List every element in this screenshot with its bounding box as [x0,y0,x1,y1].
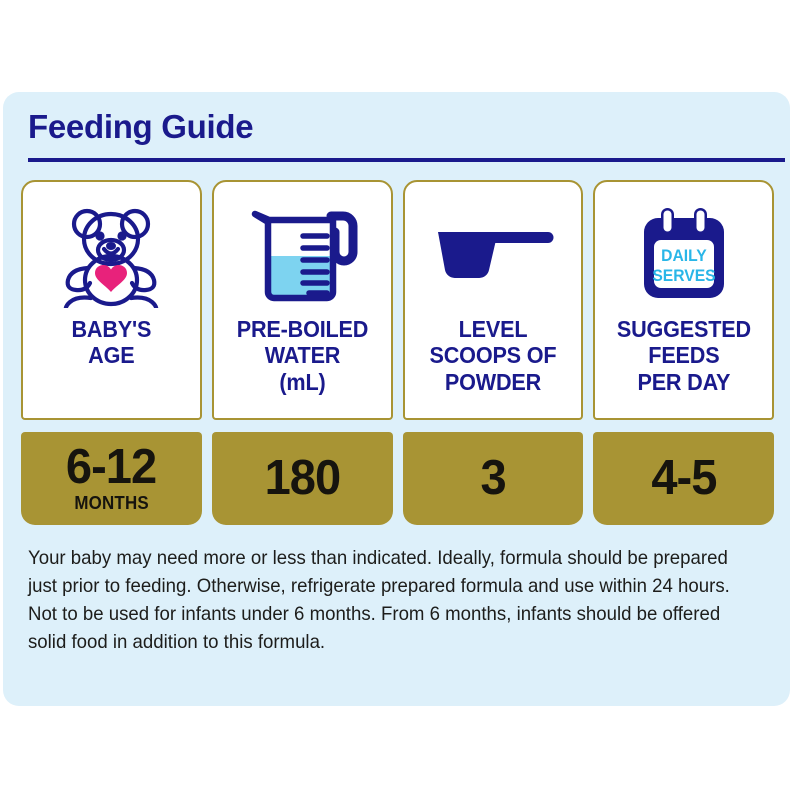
card-label-level-scoops: LEVEL SCOOPS OF POWDER [429,316,556,395]
title-divider [28,158,785,162]
column-pre-boiled-water: PRE-BOILED WATER (mL) 180 [212,180,393,525]
scoop-icon [428,198,558,314]
card-label-suggested-feeds: SUGGESTED FEEDS PER DAY [617,316,751,395]
feeding-guide-screenshot: Feeding Guide [0,0,800,800]
value-pre-boiled-water: 180 [264,454,340,502]
value-suggested-feeds: 4-5 [651,454,716,502]
card-pre-boiled-water: PRE-BOILED WATER (mL) [212,180,393,420]
page-title: Feeding Guide [28,108,253,146]
feeding-guide-note: Your baby may need more or less than ind… [28,544,742,656]
value-unit-babys-age: MONTHS [74,493,148,514]
value-babys-age: 6-12 [66,443,156,491]
column-babys-age: BABY'S AGE 6-12 MONTHS [21,180,202,525]
column-suggested-feeds: DAILY SERVES SUGGESTED FEEDS PER DAY 4-5 [593,180,774,525]
feeding-guide-grid: BABY'S AGE 6-12 MONTHS [21,180,774,525]
value-level-scoops: 3 [480,454,505,502]
value-bar-suggested-feeds: 4-5 [593,432,774,525]
card-suggested-feeds: DAILY SERVES SUGGESTED FEEDS PER DAY [593,180,774,420]
value-bar-level-scoops: 3 [403,432,584,525]
calendar-icon-line2: SERVES [652,267,716,285]
daily-serves-calendar-icon: DAILY SERVES [632,198,736,314]
value-bar-babys-age: 6-12 MONTHS [21,432,202,525]
card-babys-age: BABY'S AGE [21,180,202,420]
card-label-pre-boiled-water: PRE-BOILED WATER (mL) [236,316,368,395]
value-bar-pre-boiled-water: 180 [212,432,393,525]
column-level-scoops: LEVEL SCOOPS OF POWDER 3 [403,180,584,525]
card-level-scoops: LEVEL SCOOPS OF POWDER [403,180,584,420]
teddy-bear-icon [55,198,167,314]
feeding-guide-panel: Feeding Guide [3,92,790,706]
calendar-icon-line1: DAILY [661,247,707,265]
card-label-babys-age: BABY'S AGE [72,316,152,369]
measuring-jug-icon [243,198,361,314]
